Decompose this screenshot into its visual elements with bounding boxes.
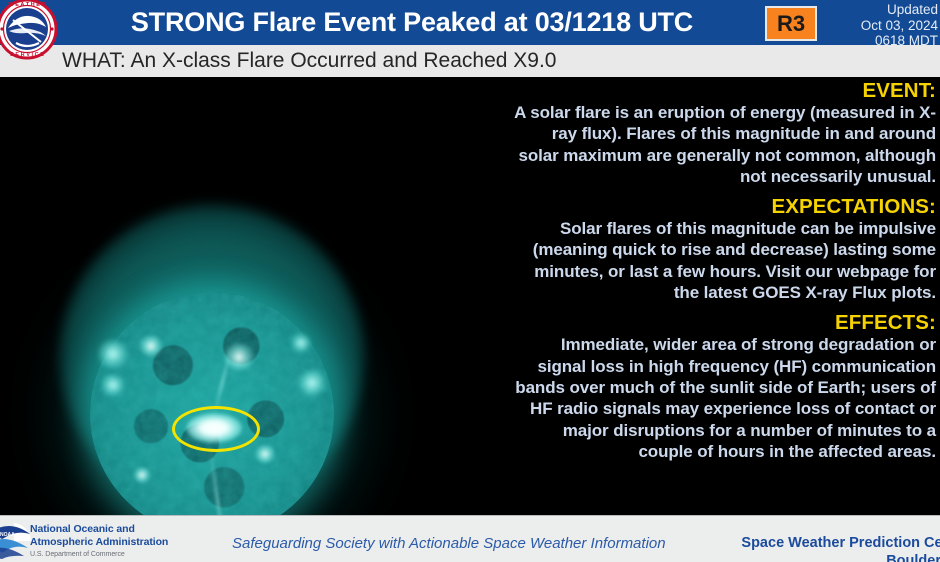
active-region-southeast	[253, 445, 277, 463]
status-badge: R3	[765, 6, 817, 41]
footer-tagline: Safeguarding Society with Actionable Spa…	[232, 535, 666, 552]
effects-heading: EFFECTS:	[508, 311, 936, 334]
noaa-agency-text: National Oceanic and Atmospheric Adminis…	[30, 523, 168, 560]
space-weather-alert-graphic: W E A T H E R S E R V I C E STRONG Flare…	[0, 0, 940, 562]
effects-body: Immediate, wider area of strong degradat…	[508, 334, 936, 462]
expectations-body: Solar flares of this magnitude can be im…	[508, 218, 936, 303]
active-region-limb-west	[96, 339, 130, 369]
header-bar: W E A T H E R S E R V I C E STRONG Flare…	[0, 0, 940, 45]
flare-region-ellipse	[172, 406, 260, 452]
svg-text:W E A T H E R: W E A T H E R	[8, 2, 45, 8]
updated-date: Oct 03, 2024	[825, 18, 938, 34]
effects-section: EFFECTS: Immediate, wider area of strong…	[508, 311, 936, 462]
svg-text:NOAA: NOAA	[0, 532, 15, 538]
information-column: EVENT: A solar flare is an eruption of e…	[508, 77, 940, 515]
solar-image-panel	[0, 77, 500, 515]
active-region-limb-east	[296, 369, 328, 397]
event-body: A solar flare is an eruption of energy (…	[508, 102, 936, 187]
agency-line-2: Atmospheric Administration	[30, 536, 168, 549]
national-weather-service-logo: W E A T H E R S E R V I C E	[0, 0, 58, 60]
what-text: WHAT: An X-class Flare Occurred and Reac…	[0, 49, 556, 73]
agency-line-3: U.S. Department of Commerce	[30, 549, 168, 560]
noaa-logo: NOAA	[0, 522, 34, 560]
updated-block: Updated Oct 03, 2024 0618 MDT	[825, 2, 938, 49]
active-region-northwest	[138, 335, 164, 357]
footer-bar: NOAA National Oceanic and Atmospheric Ad…	[0, 515, 940, 562]
event-section: EVENT: A solar flare is an eruption of e…	[508, 79, 936, 187]
active-region-limb-west-2	[100, 373, 126, 397]
swpc-center-location: Boulder, CO	[640, 552, 940, 562]
expectations-section: EXPECTATIONS: Solar flares of this magni…	[508, 195, 936, 303]
page-title: STRONG Flare Event Peaked at 03/1218 UTC	[62, 0, 762, 45]
svg-text:S E R V I C E: S E R V I C E	[10, 52, 44, 58]
what-subtitle-bar: WHAT: An X-class Flare Occurred and Reac…	[0, 45, 940, 77]
swpc-block: Space Weather Prediction Center Boulder,…	[640, 534, 940, 562]
active-region-southwest	[132, 467, 152, 483]
event-heading: EVENT:	[508, 79, 936, 102]
swpc-center-name: Space Weather Prediction Center	[640, 534, 940, 552]
active-region-limb-east-2	[290, 333, 312, 353]
expectations-heading: EXPECTATIONS:	[508, 195, 936, 218]
agency-line-1: National Oceanic and	[30, 523, 168, 536]
updated-label: Updated	[825, 2, 938, 18]
